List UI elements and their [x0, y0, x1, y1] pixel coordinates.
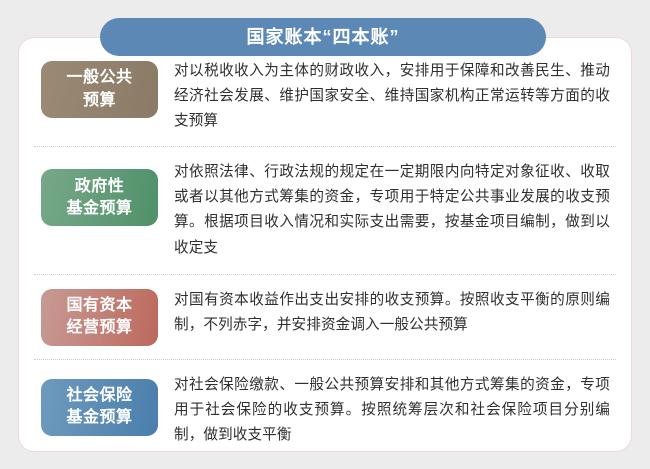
- budget-rows-container: 一般公共 预算 对以税收收入为主体的财政收入，安排用于保障和改善民生、推动经济社…: [18, 37, 632, 452]
- budget-description: 对国有资本收益作出支出安排的收支预算。按照收支平衡的原则编制，不列赤字，并安排资…: [158, 288, 616, 338]
- budget-description: 对以税收收入为主体的财政收入，安排用于保障和改善民生、推动经济社会发展、维护国家…: [158, 59, 616, 134]
- budget-description: 对社会保险缴款、一般公共预算安排和其他方式筹集的资金，专项用于社会保险的收支预算…: [158, 373, 616, 448]
- budget-label-social-insurance: 社会保险 基金预算: [41, 379, 158, 436]
- budget-label-general-public: 一般公共 预算: [41, 61, 158, 118]
- budget-row: 国有资本 经营预算 对国有资本收益作出支出安排的收支预算。按照收支平衡的原则编制…: [34, 274, 616, 359]
- budget-label-line-1: 政府性: [75, 176, 125, 198]
- budget-description: 对依照法律、行政法规的规定在一定期限内向特定对象征收、收取或者以其他方式筹集的资…: [158, 160, 616, 260]
- budget-label-line-1: 社会保险: [66, 385, 132, 407]
- budget-label-line-2: 预算: [83, 90, 116, 112]
- budget-row: 社会保险 基金预算 对社会保险缴款、一般公共预算安排和其他方式筹集的资金，专项用…: [34, 359, 616, 458]
- budget-label-line-2: 基金预算: [66, 407, 132, 429]
- budget-row: 政府性 基金预算 对依照法律、行政法规的规定在一定期限内向特定对象征收、收取或者…: [34, 146, 616, 273]
- page-title: 国家账本“四本账”: [247, 28, 400, 46]
- budget-row: 一般公共 预算 对以税收收入为主体的财政收入，安排用于保障和改善民生、推动经济社…: [34, 58, 616, 146]
- budget-label-government-fund: 政府性 基金预算: [41, 169, 158, 226]
- budget-label-line-2: 基金预算: [66, 198, 132, 220]
- budget-label-line-1: 国有资本: [66, 295, 132, 317]
- header-pill: 国家账本“四本账”: [100, 18, 546, 56]
- budget-label-state-capital: 国有资本 经营预算: [41, 289, 158, 346]
- budget-label-line-1: 一般公共: [66, 67, 132, 89]
- budget-label-line-2: 经营预算: [66, 317, 132, 339]
